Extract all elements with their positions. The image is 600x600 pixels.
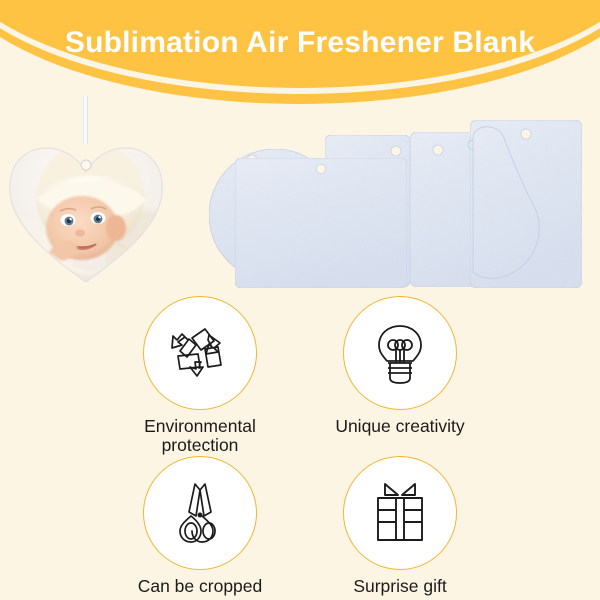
- feature-label: Environmental protection: [110, 417, 290, 454]
- heart-photo: [6, 132, 166, 284]
- feature-icon-circle: [343, 456, 457, 570]
- feature-label-line1: Unique creativity: [310, 417, 490, 436]
- gift-icon: [365, 478, 435, 548]
- recycle-icon: [165, 318, 235, 388]
- feature-label: Unique creativity: [310, 417, 490, 436]
- heart-air-freshener-product: [6, 96, 166, 286]
- feature-label: Surprise gift: [310, 577, 490, 596]
- feature-label-line1: Environmental: [110, 417, 290, 436]
- feature-grid: Environmental protection: [110, 296, 500, 596]
- feature-item-surprise-gift[interactable]: Surprise gift: [310, 456, 490, 596]
- feature-icon-circle: [143, 456, 257, 570]
- baby-photo-content: [6, 132, 166, 284]
- lightbulb-icon: [365, 318, 435, 388]
- feature-label-line1: Can be cropped: [110, 577, 290, 596]
- page-title: Sublimation Air Freshener Blank: [0, 26, 600, 60]
- feature-item-unique-creativity[interactable]: Unique creativity: [310, 296, 490, 436]
- feature-icon-circle: [343, 296, 457, 410]
- feature-icon-circle: [143, 296, 257, 410]
- blank-shapes-group: [190, 110, 600, 300]
- heart-diecut-blank: [468, 120, 582, 288]
- hanging-hole-icon: [81, 160, 91, 170]
- feature-item-can-be-cropped[interactable]: Can be cropped: [110, 456, 290, 596]
- feature-label-line2: protection: [110, 436, 290, 455]
- scissors-icon: [165, 478, 235, 548]
- feature-label-line1: Surprise gift: [310, 577, 490, 596]
- feature-label: Can be cropped: [110, 577, 290, 596]
- rectangle-blank-small: [235, 158, 407, 288]
- product-marketing-image: Sublimation Air Freshener Blank: [0, 0, 600, 600]
- feature-item-environmental-protection[interactable]: Environmental protection: [110, 296, 290, 454]
